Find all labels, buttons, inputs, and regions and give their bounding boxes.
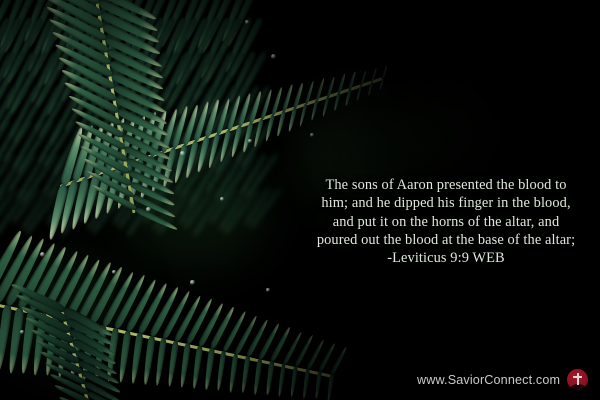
verse-line: him; and he dipped his finger in the blo…	[300, 194, 592, 212]
frond-leaflet	[327, 374, 334, 400]
frond-leaflet	[191, 346, 203, 389]
frond-leaflet	[167, 340, 180, 386]
verse-reference: -Leviticus 9:9 WEB	[300, 249, 592, 267]
background-bokeh-glow	[455, 300, 545, 370]
water-droplet	[190, 280, 195, 285]
frond-leaflet	[253, 358, 263, 394]
verse-line: and put it on the horns of the altar, an…	[300, 213, 592, 231]
water-droplet	[20, 330, 24, 334]
water-droplet	[248, 139, 252, 143]
frond-leaflet	[142, 335, 155, 384]
watermark[interactable]: www.SaviorConnect.com	[417, 369, 588, 390]
frond-leaflet	[265, 361, 274, 395]
frond-leaflet	[290, 366, 299, 397]
frond-leaflet	[302, 369, 310, 399]
watermark-url-text: www.SaviorConnect.com	[417, 373, 560, 387]
frond-leaflet	[277, 363, 286, 396]
bible-verse-text: The sons of Aaron presented the blood to…	[300, 176, 592, 267]
frond-leaflet	[204, 348, 215, 390]
logo-cross-horizontal	[573, 376, 583, 378]
water-droplet	[112, 270, 116, 274]
frond-leaflet	[314, 371, 322, 399]
water-droplet	[271, 54, 276, 59]
frond-leaflet	[228, 353, 239, 392]
water-droplet	[220, 197, 224, 201]
frond-leaflet	[130, 333, 144, 384]
frond-leaflet	[241, 356, 251, 393]
verse-image-canvas: The sons of Aaron presented the blood to…	[0, 0, 600, 400]
water-droplet	[40, 252, 45, 257]
water-droplet	[180, 151, 185, 156]
verse-line: The sons of Aaron presented the blood to	[300, 176, 592, 194]
cross-on-hill-logo-icon	[567, 369, 588, 390]
water-droplet	[310, 133, 314, 137]
water-droplet	[245, 20, 249, 24]
frond-leaflet	[216, 351, 227, 391]
verse-line: poured out the blood at the base of the …	[300, 231, 592, 249]
frond-leaflet	[331, 347, 348, 375]
frond-leaflet	[154, 338, 167, 386]
water-droplet	[266, 288, 270, 292]
frond-leaflet	[382, 66, 388, 79]
logo-cross-vertical	[577, 373, 579, 385]
frond-leaflet	[179, 343, 191, 388]
